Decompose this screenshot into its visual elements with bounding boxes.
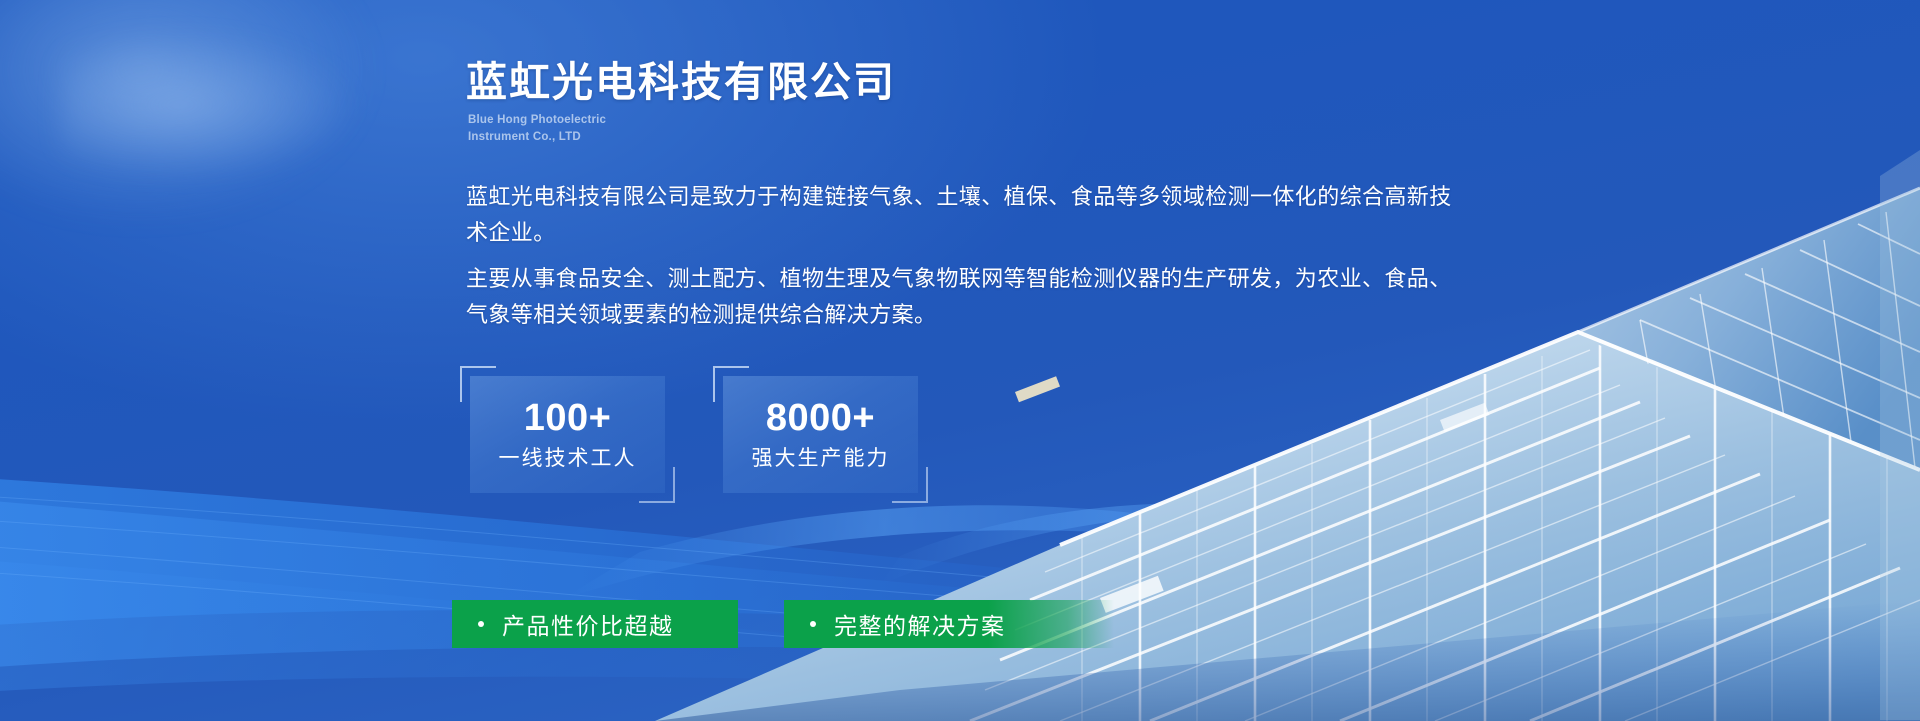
stats-group: 100+ 一线技术工人 8000+ 强大生产能力 — [470, 376, 918, 493]
feature-tag-group: 产品性价比超越 完整的解决方案 — [452, 600, 1114, 648]
subtitle-line-2: Instrument Co., LTD — [468, 129, 606, 146]
stat-card-capacity: 8000+ 强大生产能力 — [723, 376, 918, 493]
stat-label: 一线技术工人 — [499, 443, 637, 475]
bullet-dot-icon — [810, 621, 816, 627]
stat-card-workers: 100+ 一线技术工人 — [470, 376, 665, 493]
intro-paragraph-1: 蓝虹光电科技有限公司是致力于构建链接气象、土壤、植保、食品等多领域检测一体化的综… — [466, 179, 1456, 251]
building-edge-silhouette — [1880, 150, 1920, 720]
cloud-wisp-secondary-icon — [60, 30, 360, 180]
bullet-dot-icon — [478, 621, 484, 627]
intro-paragraph-2: 主要从事食品安全、测土配方、植物生理及气象物联网等智能检测仪器的生产研发，为农业… — [466, 261, 1456, 333]
cloud-wisp-icon — [0, 0, 370, 220]
subtitle-line-1: Blue Hong Photoelectric — [468, 112, 606, 129]
company-subtitle-en: Blue Hong Photoelectric Instrument Co., … — [468, 112, 606, 146]
hero-banner: 蓝虹光电科技有限公司 Blue Hong Photoelectric Instr… — [0, 0, 1920, 721]
stat-value: 100+ — [524, 395, 612, 441]
page-title: 蓝虹光电科技有限公司 — [466, 48, 896, 108]
stat-value: 8000+ — [766, 395, 875, 441]
feature-tag-solution[interactable]: 完整的解决方案 — [784, 600, 1114, 648]
stat-label: 强大生产能力 — [752, 443, 890, 475]
feature-tag-label: 完整的解决方案 — [834, 607, 1006, 641]
feature-tag-value[interactable]: 产品性价比超越 — [452, 600, 738, 648]
feature-tag-label: 产品性价比超越 — [502, 607, 674, 641]
